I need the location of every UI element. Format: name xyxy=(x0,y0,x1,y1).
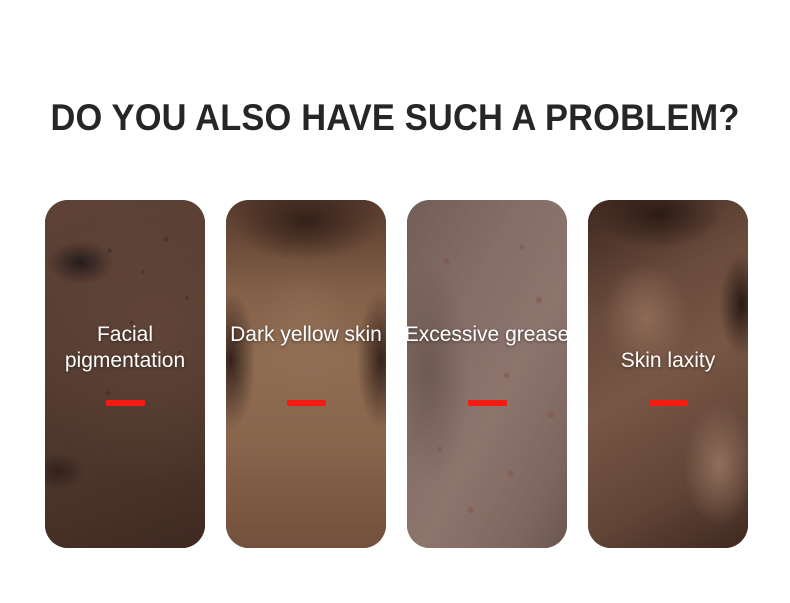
accent-underline-bar xyxy=(287,400,326,406)
problem-label: Skin laxity xyxy=(588,348,748,374)
card-body: Excessive grease xyxy=(407,200,567,548)
problem-poster: DO YOU ALSO HAVE SUCH A PROBLEM? Facial … xyxy=(0,0,790,603)
card-body: Skin laxity xyxy=(588,200,748,548)
accent-underline-bar xyxy=(468,400,507,406)
page-title: DO YOU ALSO HAVE SUCH A PROBLEM? xyxy=(28,96,763,140)
problem-card-dark-yellow-skin[interactable]: Dark yellow skin xyxy=(226,200,386,548)
problem-card-skin-laxity[interactable]: Skin laxity xyxy=(588,200,748,548)
problem-card-excessive-grease[interactable]: Excessive grease xyxy=(407,200,567,548)
accent-underline-bar xyxy=(106,400,145,406)
problem-label: Excessive grease xyxy=(407,322,567,348)
problem-card-facial-pigmentation[interactable]: Facial pigmentation xyxy=(45,200,205,548)
card-body: Facial pigmentation xyxy=(45,200,205,548)
problem-panel-strip: Facial pigmentation Dark yellow skin Exc… xyxy=(45,200,748,548)
problem-label: Dark yellow skin xyxy=(226,322,386,348)
problem-label: Facial pigmentation xyxy=(45,322,205,374)
card-body: Dark yellow skin xyxy=(226,200,386,548)
accent-underline-bar xyxy=(649,400,688,406)
